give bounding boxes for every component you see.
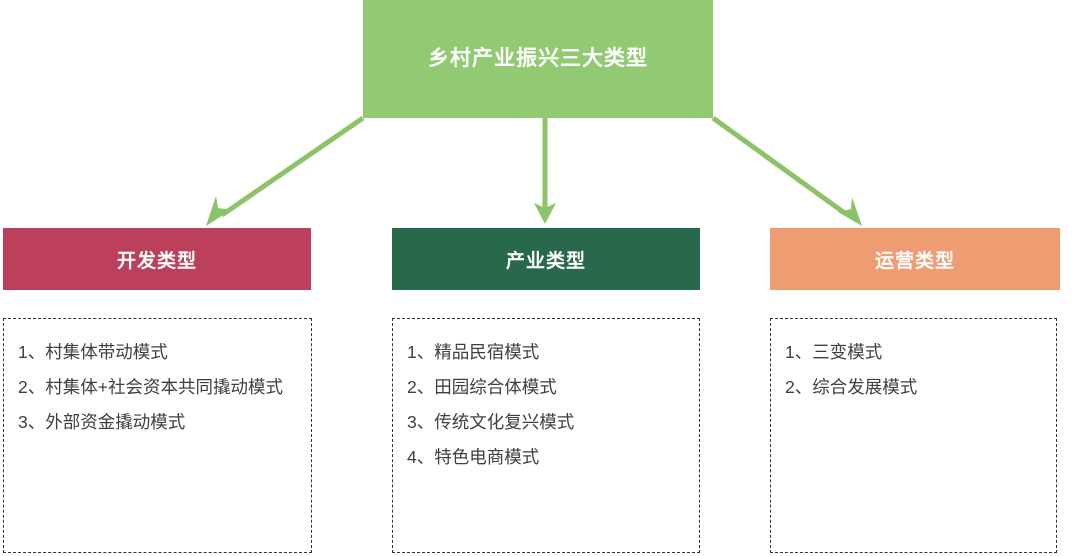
list-item: 3、外部资金撬动模式 <box>18 405 301 440</box>
list-item: 1、村集体带动模式 <box>18 335 301 370</box>
category-header-industry[interactable]: 产业类型 <box>392 228 700 290</box>
category-header-development[interactable]: 开发类型 <box>3 228 311 290</box>
root-node-label: 乡村产业振兴三大类型 <box>428 46 648 71</box>
list-box-development: 1、村集体带动模式 2、村集体+社会资本共同撬动模式 3、外部资金撬动模式 <box>3 318 312 553</box>
list-item: 3、传统文化复兴模式 <box>407 405 689 440</box>
category-header-operation-label: 运营类型 <box>875 246 955 273</box>
list-item: 4、特色电商模式 <box>407 440 689 475</box>
diagram-canvas: 乡村产业振兴三大类型 开发类型 1、村集体带动模式 2、村集体+社会资本共同撬动… <box>0 0 1080 556</box>
root-node[interactable]: 乡村产业振兴三大类型 <box>363 0 713 118</box>
arrow-to-industry-icon <box>534 118 556 224</box>
list-item: 1、精品民宿模式 <box>407 335 689 370</box>
category-header-operation[interactable]: 运营类型 <box>770 228 1060 290</box>
category-header-industry-label: 产业类型 <box>506 246 586 273</box>
category-header-development-label: 开发类型 <box>117 246 197 273</box>
arrow-to-operation-icon <box>713 118 862 226</box>
list-item: 2、村集体+社会资本共同撬动模式 <box>18 370 301 405</box>
list-box-operation: 1、三变模式 2、综合发展模式 <box>770 318 1057 553</box>
list-item: 1、三变模式 <box>785 335 1046 370</box>
arrow-to-development-icon <box>206 118 363 226</box>
list-box-industry: 1、精品民宿模式 2、田园综合体模式 3、传统文化复兴模式 4、特色电商模式 <box>392 318 700 553</box>
list-item: 2、综合发展模式 <box>785 370 1046 405</box>
list-item: 2、田园综合体模式 <box>407 370 689 405</box>
